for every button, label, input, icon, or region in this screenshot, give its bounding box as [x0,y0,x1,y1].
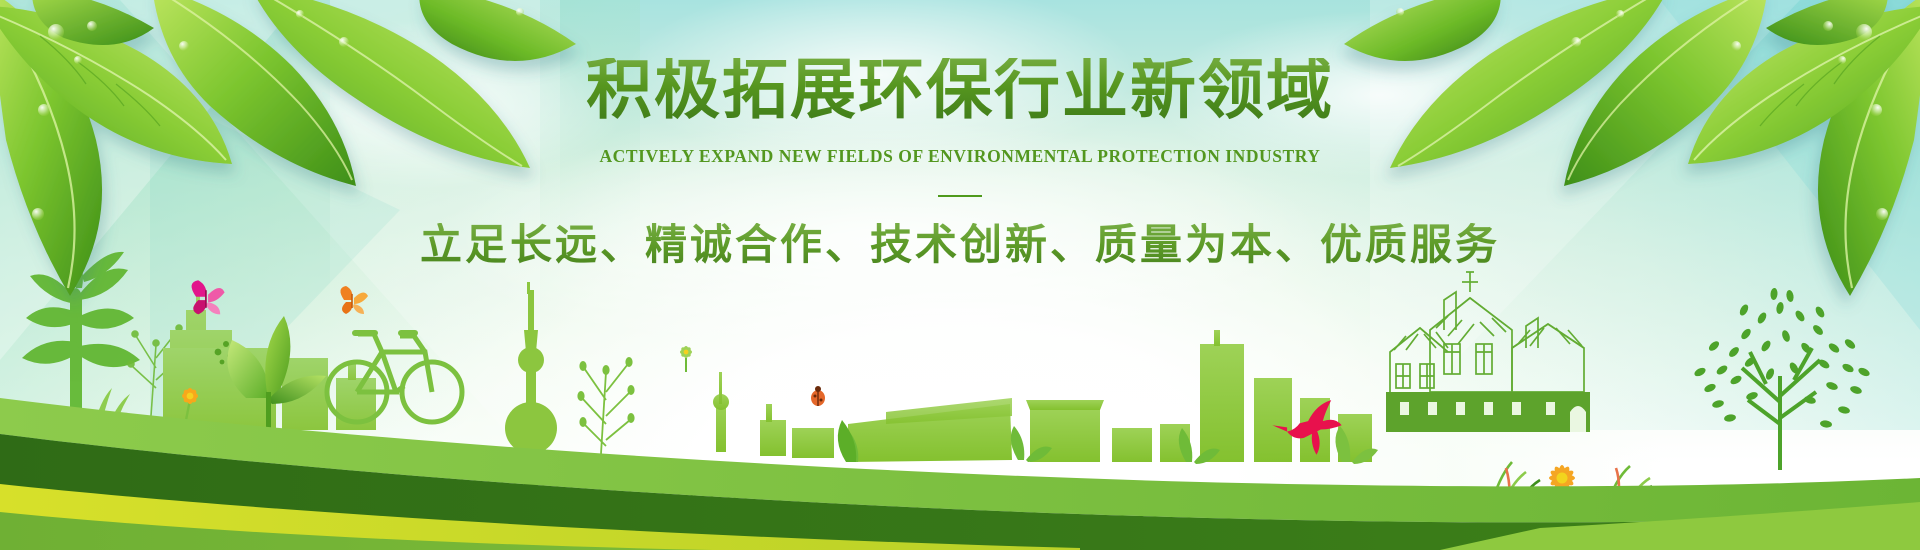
title-divider [938,195,982,197]
page-slogan: 立足长远、精诚合作、技术创新、质量为本、优质服务 [0,223,1920,269]
page-subtitle-en: ACTIVELY EXPAND NEW FIELDS OF ENVIRONMEN… [0,146,1920,167]
page-title: 积极拓展环保行业新领域 [0,58,1920,124]
banner-text-block: 积极拓展环保行业新领域 ACTIVELY EXPAND NEW FIELDS O… [0,0,1920,269]
eco-banner: 积极拓展环保行业新领域 ACTIVELY EXPAND NEW FIELDS O… [0,0,1920,550]
